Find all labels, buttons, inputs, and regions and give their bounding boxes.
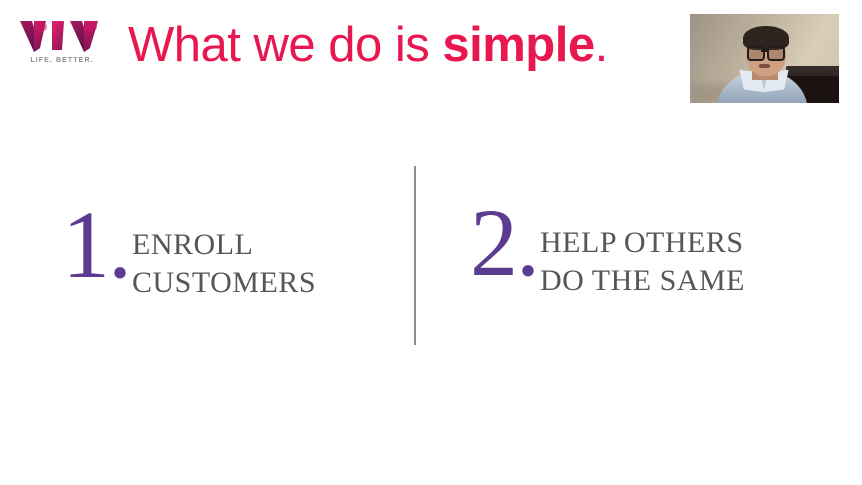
vertical-divider (414, 166, 416, 345)
presenter-video-feed[interactable] (690, 14, 839, 103)
step-2-text: HELP OTHERS DO THE SAME (540, 200, 745, 300)
video-person-glasses-bridge (761, 50, 767, 52)
brand-tagline: LIFE. BETTER. (18, 57, 106, 64)
step-2-line-2: DO THE SAME (540, 262, 745, 300)
presentation-slide: LIFE. BETTER. What we do is simple. 1. E… (0, 0, 862, 485)
step-1-number: 1. (62, 202, 130, 288)
step-item-1: 1. ENROLL CUSTOMERS (62, 202, 316, 302)
video-person-mouth (759, 64, 770, 68)
step-1-line-2: CUSTOMERS (132, 264, 316, 302)
step-2-number: 2. (470, 200, 538, 286)
step-item-2: 2. HELP OTHERS DO THE SAME (470, 200, 745, 300)
video-person-glasses-left (747, 46, 765, 61)
step-2-line-1: HELP OTHERS (540, 224, 745, 262)
title-suffix-text: . (595, 18, 608, 72)
title-emphasis-text: simple (442, 18, 594, 72)
step-1-line-1: ENROLL (132, 226, 316, 264)
step-1-text: ENROLL CUSTOMERS (132, 202, 316, 302)
viv-brand-logo: LIFE. BETTER. (18, 18, 108, 74)
video-person-glasses-right (767, 46, 785, 61)
title-plain-text: What we do is (128, 18, 442, 72)
viv-logo-mark (18, 18, 106, 54)
slide-title: What we do is simple. (128, 16, 608, 74)
